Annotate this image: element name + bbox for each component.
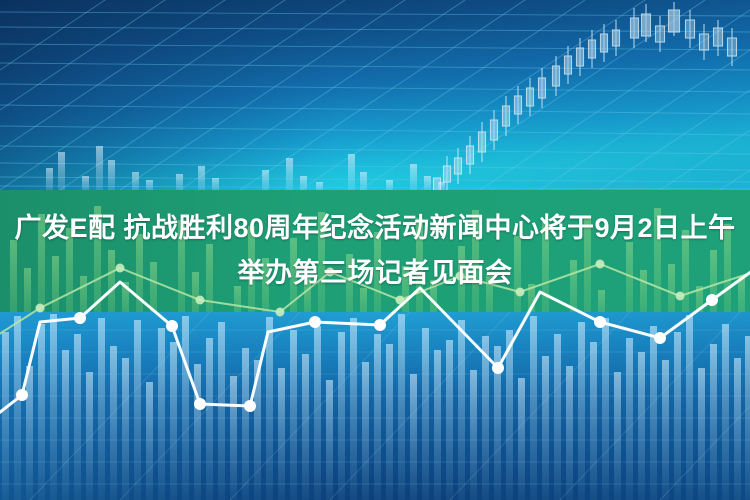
financial-chart-background — [0, 0, 750, 500]
promo-banner: 广发E配 抗战胜利80周年纪念活动新闻中心将于9月2日上午 举办第三场记者见面会 — [0, 0, 750, 500]
